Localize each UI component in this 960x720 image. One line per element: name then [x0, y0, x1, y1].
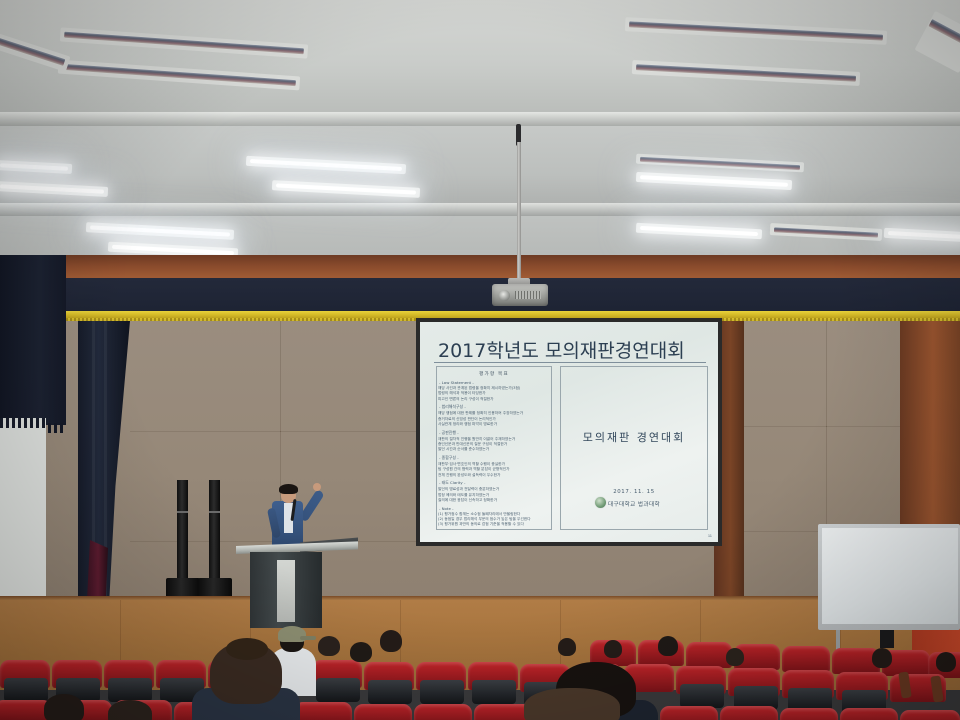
ceiling-tier-1 — [0, 0, 960, 118]
seat — [294, 702, 352, 720]
wall-panel-seam — [740, 321, 827, 427]
stage-curtain-top-left — [0, 255, 66, 425]
slide-page-number: 11 — [708, 533, 712, 538]
ceiling-edge-2 — [0, 203, 960, 216]
side-wall-white — [0, 425, 46, 625]
slide-section-line: 사실관계 정리와 쟁점 파악이 명료한가 — [438, 422, 551, 427]
podium-front-panel — [277, 560, 295, 622]
seat — [720, 706, 778, 720]
slide-title-rule — [434, 362, 706, 363]
audience-head — [350, 642, 372, 662]
audience-hair-bun — [226, 638, 268, 660]
seat-back — [420, 680, 464, 704]
audience-head — [872, 648, 892, 668]
audience-head — [726, 648, 744, 666]
wall-panel-seam — [826, 426, 901, 532]
presenter-hair — [279, 484, 298, 494]
projector-lens-icon — [499, 290, 510, 301]
audience-head — [108, 700, 152, 720]
seat-back — [472, 680, 516, 704]
seat — [900, 710, 960, 720]
slide-section-line: 질의에 대한 응답이 신속하고 정확한가 — [438, 498, 551, 503]
slide-section-line: 전체 진행의 완성도와 설득력이 우수한가 — [438, 473, 551, 478]
seat-back — [368, 680, 412, 704]
seat — [780, 708, 838, 720]
slide-footnote: (3) 평가위원 과반의 동의로 감점 기준을 적용할 수 있다 — [438, 522, 551, 527]
curtain-hem-fringe — [0, 418, 46, 428]
seat-back — [108, 678, 152, 702]
seat — [414, 704, 472, 720]
wall-panel-seam — [826, 321, 901, 427]
wall-panel-seam — [130, 431, 281, 542]
audience-head — [658, 636, 678, 656]
seat-back — [4, 678, 48, 702]
seat-back — [680, 684, 724, 708]
audience-head — [380, 630, 402, 652]
seat — [354, 704, 412, 720]
seat — [840, 708, 898, 720]
ceiling-tier-2 — [0, 126, 960, 208]
seat — [660, 706, 718, 720]
slide-event-title: 모의재판 경연대회 — [561, 429, 707, 445]
ceiling-edge-1 — [0, 112, 960, 126]
slide-section-line: 피고인 변론의 논리 구성이 적절한가 — [438, 397, 551, 402]
wall-panel-seam — [740, 426, 827, 532]
audience-head — [558, 638, 576, 656]
slide-section-label: - 종합구성 - — [439, 455, 551, 461]
projection-screen: 2017학년도 모의재판경연대회 평가항 목표 - Law Statement … — [420, 322, 718, 542]
slide-left-heading: 평가항 목표 — [437, 371, 551, 377]
slide-footnote-label: - Note - — [439, 506, 551, 511]
wall-panel-seam — [130, 321, 281, 432]
slide-section-label: - Law Statement - — [439, 380, 551, 385]
slide-section-line: 발언 시간과 순서를 준수하였는가 — [438, 447, 551, 452]
audience-head — [318, 636, 340, 656]
whiteboard-surface[interactable] — [822, 528, 958, 624]
slide-organization: 대구대학교 법과대학 — [561, 500, 707, 508]
audience-head — [524, 688, 620, 720]
slide-section-label: - 법리해석구성 - — [439, 404, 551, 410]
slide-right-panel: 모의재판 경연대회 2017. 11. 15 대구대학교 법과대학 — [560, 366, 708, 530]
projector-pole — [517, 142, 521, 282]
auditorium-photo: 2017학년도 모의재판경연대회 평가항 목표 - Law Statement … — [0, 0, 960, 720]
projector-vent-icon — [515, 291, 541, 299]
slide-left-panel: 평가항 목표 - Law Statement - 해당 사건과 관계된 법령을 … — [436, 366, 552, 530]
slide-section-label: - 공판진행 - — [439, 430, 551, 436]
slide-title: 2017학년도 모의재판경연대회 — [438, 336, 706, 363]
wall-panel-seam — [280, 321, 421, 432]
audience-cap-brim-icon — [300, 636, 316, 640]
audience-head — [936, 652, 956, 672]
audience-head — [604, 640, 622, 658]
presenter-hand — [313, 483, 321, 491]
seat-back — [316, 678, 360, 702]
slide-section-label: - 태도 Clarity - — [439, 480, 551, 486]
audience-head — [44, 694, 84, 720]
slide-event-date: 2017. 11. 15 — [561, 489, 707, 495]
seat — [782, 646, 830, 672]
